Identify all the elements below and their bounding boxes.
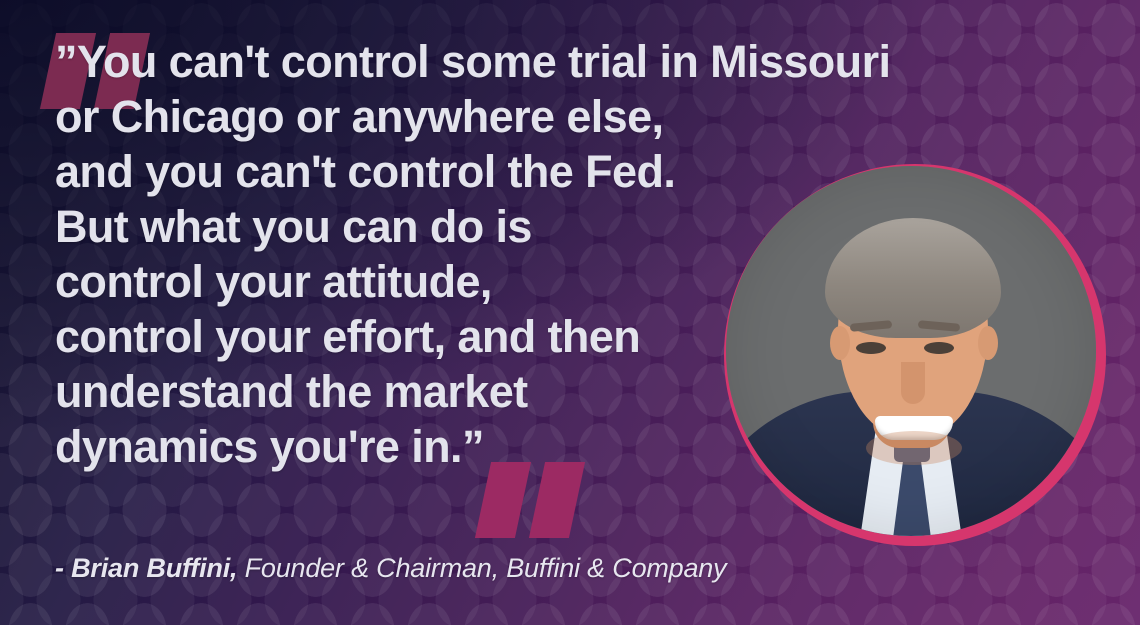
attribution-name: Brian Buffini, xyxy=(71,553,237,583)
portrait-eye-left xyxy=(856,342,886,354)
quote-line: ”You can't control some trial in Missour… xyxy=(55,34,755,89)
attribution-dash: - xyxy=(55,553,71,583)
quote-line: control your effort, and then xyxy=(55,309,755,364)
quote-card: ”You can't control some trial in Missour… xyxy=(0,0,1140,625)
quote-line: and you can't control the Fed. xyxy=(55,144,755,199)
portrait-chin xyxy=(866,431,962,465)
quote-line: dynamics you're in.” xyxy=(55,419,755,474)
quote-text: ”You can't control some trial in Missour… xyxy=(55,34,755,474)
quote-line: understand the market xyxy=(55,364,755,419)
quote-line: control your attitude, xyxy=(55,254,755,309)
attribution: - Brian Buffini, Founder & Chairman, Buf… xyxy=(55,553,726,584)
portrait-eye-right xyxy=(924,342,954,354)
quote-line: or Chicago or anywhere else, xyxy=(55,89,755,144)
portrait xyxy=(724,164,1106,546)
portrait-clip xyxy=(726,166,1096,536)
portrait-ear-right xyxy=(978,326,998,360)
portrait-photo xyxy=(726,166,1096,536)
quote-line: But what you can do is xyxy=(55,199,755,254)
portrait-nose xyxy=(901,362,925,404)
portrait-ear-left xyxy=(830,326,850,360)
attribution-role: Founder & Chairman, Buffini & Company xyxy=(237,553,726,583)
